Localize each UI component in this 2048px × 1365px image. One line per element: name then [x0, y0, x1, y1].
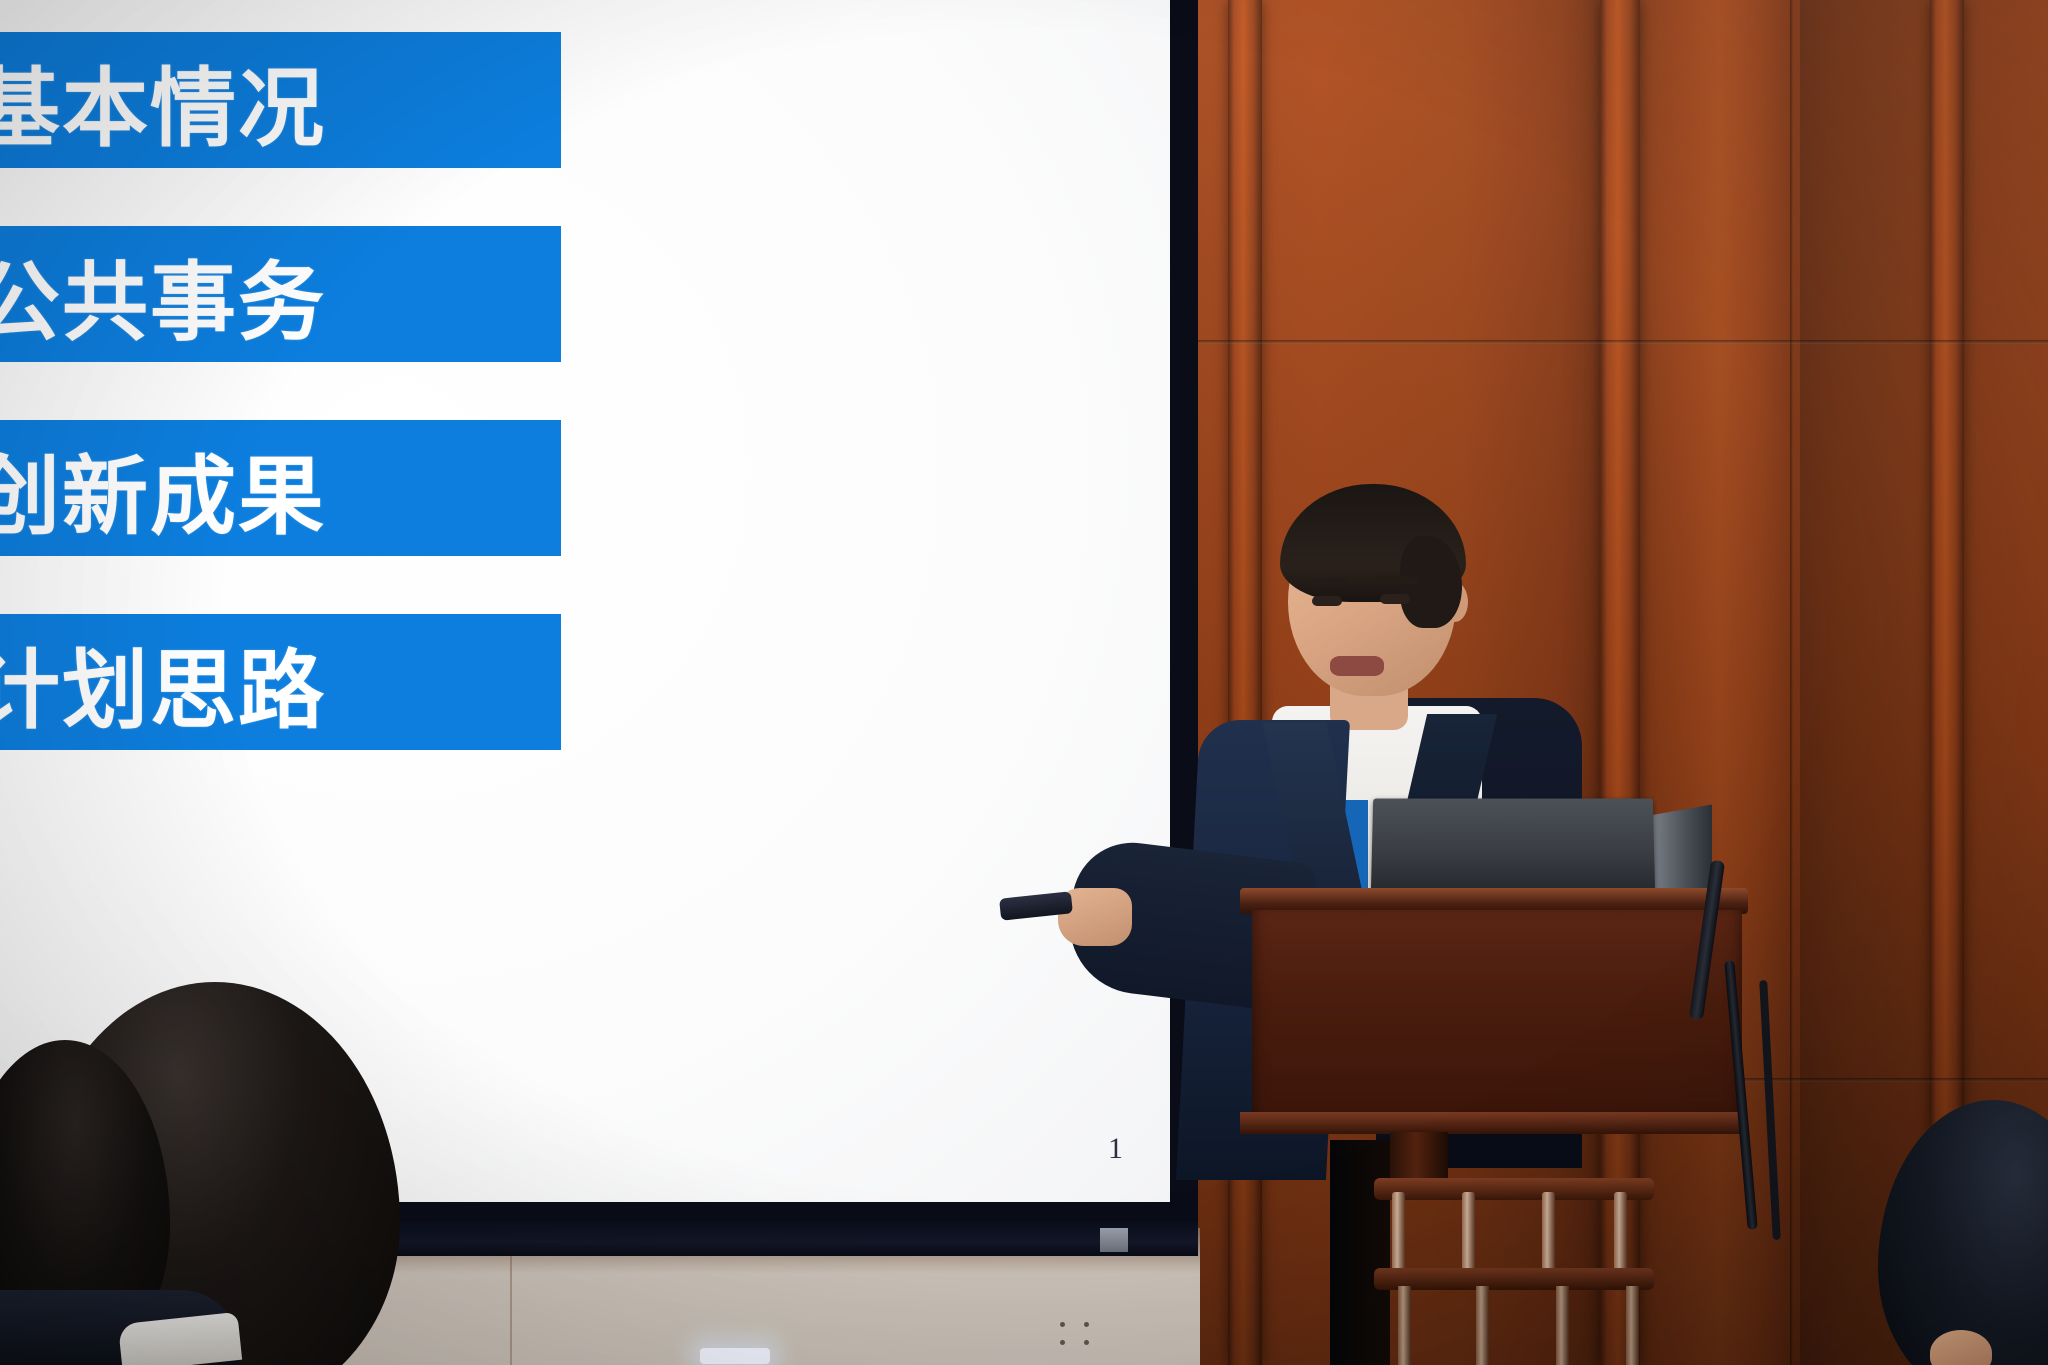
slide-page-number: 1 [1108, 1132, 1123, 1166]
slide-bar-3: 要创新成果 [0, 420, 561, 556]
wall-socket-plate [1060, 1322, 1094, 1348]
presenter-eye-left [1312, 596, 1342, 606]
slide-bar-3-label: 要创新成果 [0, 426, 326, 551]
lower-wall-seam [510, 1240, 512, 1365]
chair-top-rail [1374, 1178, 1654, 1200]
slide-bar-2-label: 加公共事务 [0, 232, 326, 357]
chair-shadow [1330, 1140, 1390, 1365]
chair-leg-1 [1398, 1286, 1411, 1365]
slide-bar-1-label: 人基本情况 [0, 38, 326, 163]
screen-bezel-tag [1100, 1228, 1128, 1252]
chair-leg-2 [1476, 1286, 1489, 1365]
chair-leg-4 [1626, 1286, 1639, 1365]
reflected-light-strip [700, 1348, 770, 1364]
chair-lower-rail [1374, 1268, 1654, 1290]
slide-bar-1: 人基本情况 [0, 32, 561, 168]
chair-leg-3 [1556, 1286, 1569, 1365]
laptop[interactable] [1371, 799, 1655, 897]
presenter-mouth [1330, 656, 1384, 676]
slide-bar-2: 加公共事务 [0, 226, 561, 362]
presenter-eye-right [1380, 594, 1410, 604]
slide-bar-4: 作计划思路 [0, 614, 561, 750]
slide-bar-4-label: 作计划思路 [0, 620, 326, 745]
lectern-lower-edge [1240, 1112, 1748, 1134]
lectern-body [1252, 910, 1742, 1130]
presentation-photo: 人基本情况 加公共事务 要创新成果 作计划思路 1 [0, 0, 2048, 1365]
